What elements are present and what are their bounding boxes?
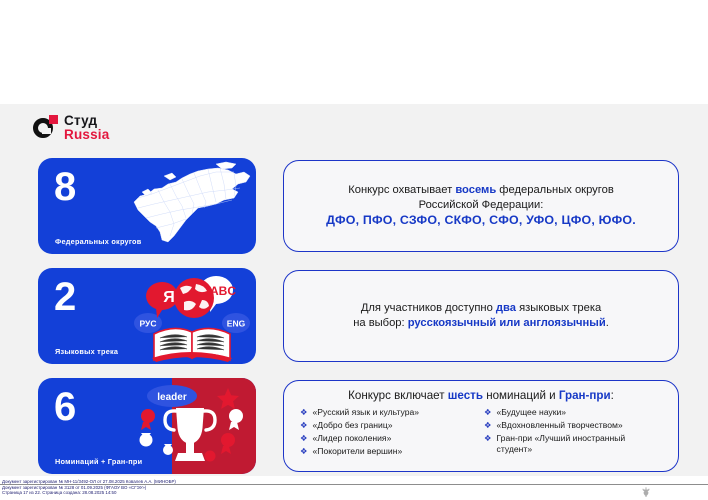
nominations-column-right: ❖ «Будущее науки» ❖ «Вдохновленный творч… <box>484 407 662 459</box>
nominations-title: Конкурс включает шесть номинаций и Гран-… <box>294 388 668 403</box>
title-c: номинаций и <box>483 389 559 402</box>
bullet-diamond-icon: ❖ <box>300 420 308 431</box>
bullet-diamond-icon: ❖ <box>300 446 308 457</box>
list-item: ❖ Гран-при «Лучший иностранный студент» <box>484 433 662 456</box>
panel-text-highlight-2: русскоязычный или англоязычный <box>408 317 606 329</box>
stat-card-nominations: 6 Номинаций + Гран-при leader <box>38 378 256 474</box>
svg-text:ENG: ENG <box>227 319 246 329</box>
studrussia-logo: Студ Russia <box>33 114 109 142</box>
stat-card-districts: 8 Федеральных округов <box>38 158 256 254</box>
panel-line-1: Конкурс охватывает восемь федеральных ок… <box>284 183 678 198</box>
nominations-columns: ❖ «Русский язык и культура» ❖ «Добро без… <box>294 407 668 459</box>
panel-text-highlight: восемь <box>455 184 496 196</box>
svg-text:РУС: РУС <box>140 319 157 329</box>
registration-footer: Документ зарегистрирован № МН-11/3492-ОЛ… <box>2 479 432 496</box>
logo-wordmark: Студ Russia <box>64 114 109 142</box>
svg-text:leader: leader <box>157 392 187 403</box>
bullet-diamond-icon: ❖ <box>484 433 492 444</box>
nomination-label: «Лидер поколения» <box>313 433 478 444</box>
stat-card-label: Языковых трека <box>55 347 118 356</box>
bullet-diamond-icon: ❖ <box>484 420 492 431</box>
panel-line-1: Для участников доступно два языковых тре… <box>284 301 678 316</box>
stat-card-number: 2 <box>54 277 75 317</box>
panel-line-3: ДФО, ПФО, СЗФО, СКФО, СФО, УФО, ЦФО, ЮФО… <box>284 213 678 229</box>
panel-text-c2: . <box>606 317 609 329</box>
bullet-diamond-icon: ❖ <box>300 407 308 418</box>
title-e: : <box>611 389 614 402</box>
list-item: ❖ «Русский язык и культура» <box>300 407 478 418</box>
trophy-medals-icon: leader <box>124 378 256 474</box>
info-panel-districts: Конкурс охватывает восемь федеральных ок… <box>283 160 679 252</box>
nomination-label: «Русский язык и культура» <box>313 407 478 418</box>
bullet-diamond-icon: ❖ <box>484 407 492 418</box>
footer-line-3: Страница 17 из 22. Страница создана: 28.… <box>2 490 432 496</box>
panel-text-a2: на выбор: <box>353 317 408 329</box>
russia-map-icon <box>124 158 256 254</box>
russian-coat-of-arms-icon <box>640 486 652 498</box>
list-item: ❖ «Лидер поколения» <box>300 433 478 444</box>
info-panel-nominations: Конкурс включает шесть номинаций и Гран-… <box>283 380 679 472</box>
title-a: Конкурс включает <box>348 389 448 402</box>
stat-card-number: 6 <box>54 387 75 427</box>
list-item: ❖ «Будущее науки» <box>484 407 662 418</box>
panel-text-c: языковых трека <box>516 302 601 314</box>
nomination-label: «Покорители вершин» <box>313 446 478 457</box>
studrussia-logo-mark-icon <box>33 115 58 140</box>
panel-text-c: федеральных округов <box>496 184 614 196</box>
panel-text-a: Конкурс охватывает <box>348 184 455 196</box>
districts-list: ДФО, ПФО, СЗФО, СКФО, СФО, УФО, ЦФО, ЮФО… <box>326 213 636 227</box>
languages-book-globe-icon: РУС ENG Я ABC <box>124 268 256 364</box>
title-highlight: шесть <box>448 389 483 402</box>
nomination-label: «Вдохновленный творчеством» <box>497 420 662 431</box>
panel-line-2: Российской Федерации: <box>284 198 678 213</box>
panel-line-2: на выбор: русскоязычный или англоязычный… <box>284 316 678 331</box>
stat-card-language-tracks: 2 Языковых трека РУС ENG Я ABC <box>38 268 256 364</box>
nomination-label: «Добро без границ» <box>313 420 478 431</box>
title-highlight-2: Гран-при <box>559 389 611 402</box>
logo-line-1: Студ <box>64 114 109 128</box>
svg-text:Я: Я <box>163 289 175 306</box>
logo-line-2: Russia <box>64 128 109 142</box>
nomination-label: Гран-при «Лучший иностранный студент» <box>497 433 662 456</box>
panel-text-a: Для участников доступно <box>361 302 496 314</box>
info-panel-language-tracks: Для участников доступно два языковых тре… <box>283 270 679 362</box>
bullet-diamond-icon: ❖ <box>300 433 308 444</box>
nomination-label: «Будущее науки» <box>497 407 662 418</box>
list-item: ❖ «Добро без границ» <box>300 420 478 431</box>
nominations-column-left: ❖ «Русский язык и культура» ❖ «Добро без… <box>300 407 478 459</box>
panel-text-highlight: два <box>496 302 516 314</box>
slide-page: Студ Russia 8 Федеральных округов <box>0 0 708 500</box>
list-item: ❖ «Вдохновленный творчеством» <box>484 420 662 431</box>
list-item: ❖ «Покорители вершин» <box>300 446 478 457</box>
stat-card-number: 8 <box>54 167 75 207</box>
svg-text:ABC: ABC <box>210 284 236 298</box>
